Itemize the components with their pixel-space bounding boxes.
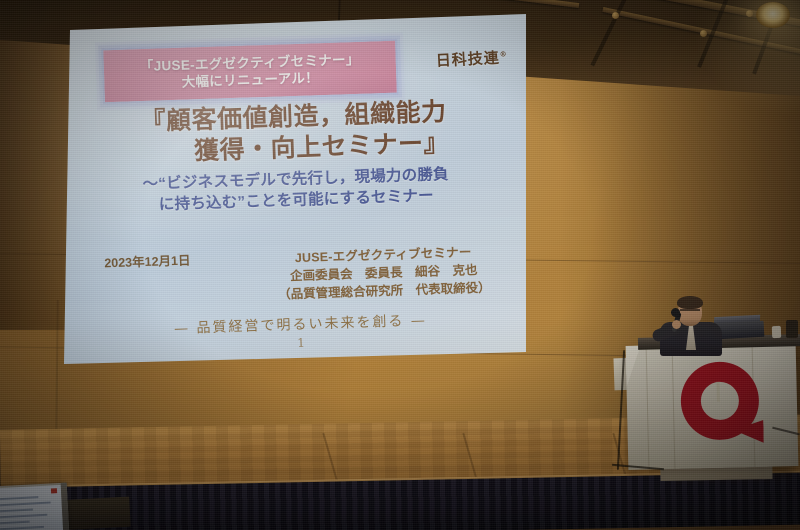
laptop-lid — [0, 483, 69, 530]
screen-row — [0, 514, 47, 519]
conference-photo-scene: 「JUSE-エグゼクティブセミナー」 大幅にリニューアル！ 日科技連® 『顧客価… — [0, 0, 800, 530]
slide-subtitle: 〜“ビジネスモデルで先行し，現場力の勝負 に持ち込む”ことを可能にするセミナー — [61, 162, 530, 219]
operator-laptop — [0, 482, 91, 530]
laptop-bezel — [61, 483, 70, 530]
slide-presenter-block: JUSE-エグゼクティブセミナー 企画委員会 委員長 細谷 克也 （品質管理総合… — [258, 243, 510, 305]
banner-line-2: 大幅にリニューアル！ — [181, 69, 319, 91]
screen-row — [0, 526, 44, 530]
speaker-figure — [650, 298, 740, 354]
q-logo-icon — [680, 361, 768, 449]
juse-logo-text: 日科技連 — [435, 49, 500, 70]
cloth-fold — [646, 345, 650, 469]
q-nick — [716, 382, 719, 402]
glasses-icon — [680, 309, 700, 316]
cloth-fold — [672, 345, 676, 469]
speaker-hair — [677, 296, 703, 309]
screen-row — [0, 496, 38, 500]
laptop-screen — [0, 485, 63, 530]
screen-row — [0, 521, 30, 525]
slide-content: 「JUSE-エグゼクティブセミナー」 大幅にリニューアル！ 日科技連® 『顧客価… — [56, 6, 535, 373]
screen-accent — [51, 488, 57, 493]
slide-date: 2023年12月1日 — [104, 250, 191, 272]
screen-row — [0, 502, 51, 507]
slide-highlight-banner: 「JUSE-エグゼクティブセミナー」 大幅にリニューアル！ — [101, 39, 399, 105]
ceiling-bolt — [612, 12, 619, 19]
podium-banner-cloth — [626, 342, 799, 470]
slide-title: 『顧客価値創造，組織能力 獲得・向上セミナー』 — [59, 94, 529, 170]
projection-screen: 「JUSE-エグゼクティブセミナー」 大幅にリニューアル！ 日科技連® 『顧客価… — [62, 14, 530, 366]
microphone-head — [671, 308, 680, 317]
podium-cup — [772, 326, 781, 338]
ceiling-spotlight-icon — [756, 2, 790, 28]
speaker-hand — [672, 320, 681, 329]
podium-device — [786, 320, 798, 338]
screen-row — [0, 508, 33, 512]
juse-logo: 日科技連® — [435, 46, 508, 71]
registered-mark: ® — [499, 49, 507, 58]
